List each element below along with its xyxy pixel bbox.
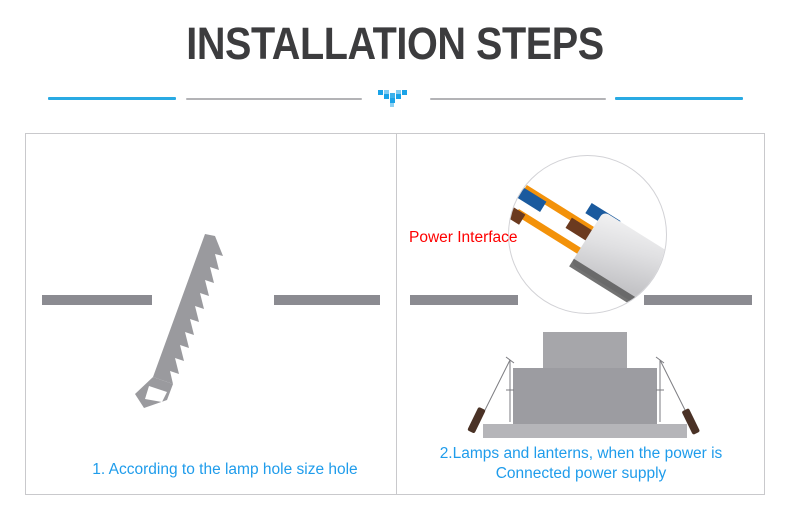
step-2-caption-line-1: 2.Lamps and lanterns, when the power is — [440, 445, 723, 462]
hand-saw-icon — [131, 234, 251, 409]
ceiling-bar-right — [644, 295, 752, 305]
step-1-caption: 1. According to the lamp hole size hole — [26, 460, 410, 480]
ceiling-bar-right — [274, 295, 380, 305]
magnifier-circle-icon — [508, 155, 667, 314]
divider-line-right — [430, 98, 606, 100]
recessed-downlight-icon — [465, 330, 705, 450]
power-interface-label: Power Interface — [409, 229, 518, 247]
steps-frame: 1. According to the lamp hole size hole — [25, 133, 765, 495]
page-title: INSTALLATION STEPS — [47, 20, 742, 68]
header: INSTALLATION STEPS — [0, 20, 790, 68]
title-divider — [0, 90, 790, 108]
step-2-caption: 2.Lamps and lanterns, when the power is … — [397, 444, 765, 484]
ceiling-bar-left — [410, 295, 518, 305]
divider-accent-left — [48, 97, 176, 100]
step-1-panel: 1. According to the lamp hole size hole — [26, 134, 396, 494]
step-2-caption-line-2: Connected power supply — [397, 464, 765, 484]
step-2-panel: Power Interface — [397, 134, 765, 494]
divider-accent-right — [615, 97, 743, 100]
divider-line-left — [186, 98, 362, 100]
chevron-down-dots-icon — [371, 90, 419, 108]
